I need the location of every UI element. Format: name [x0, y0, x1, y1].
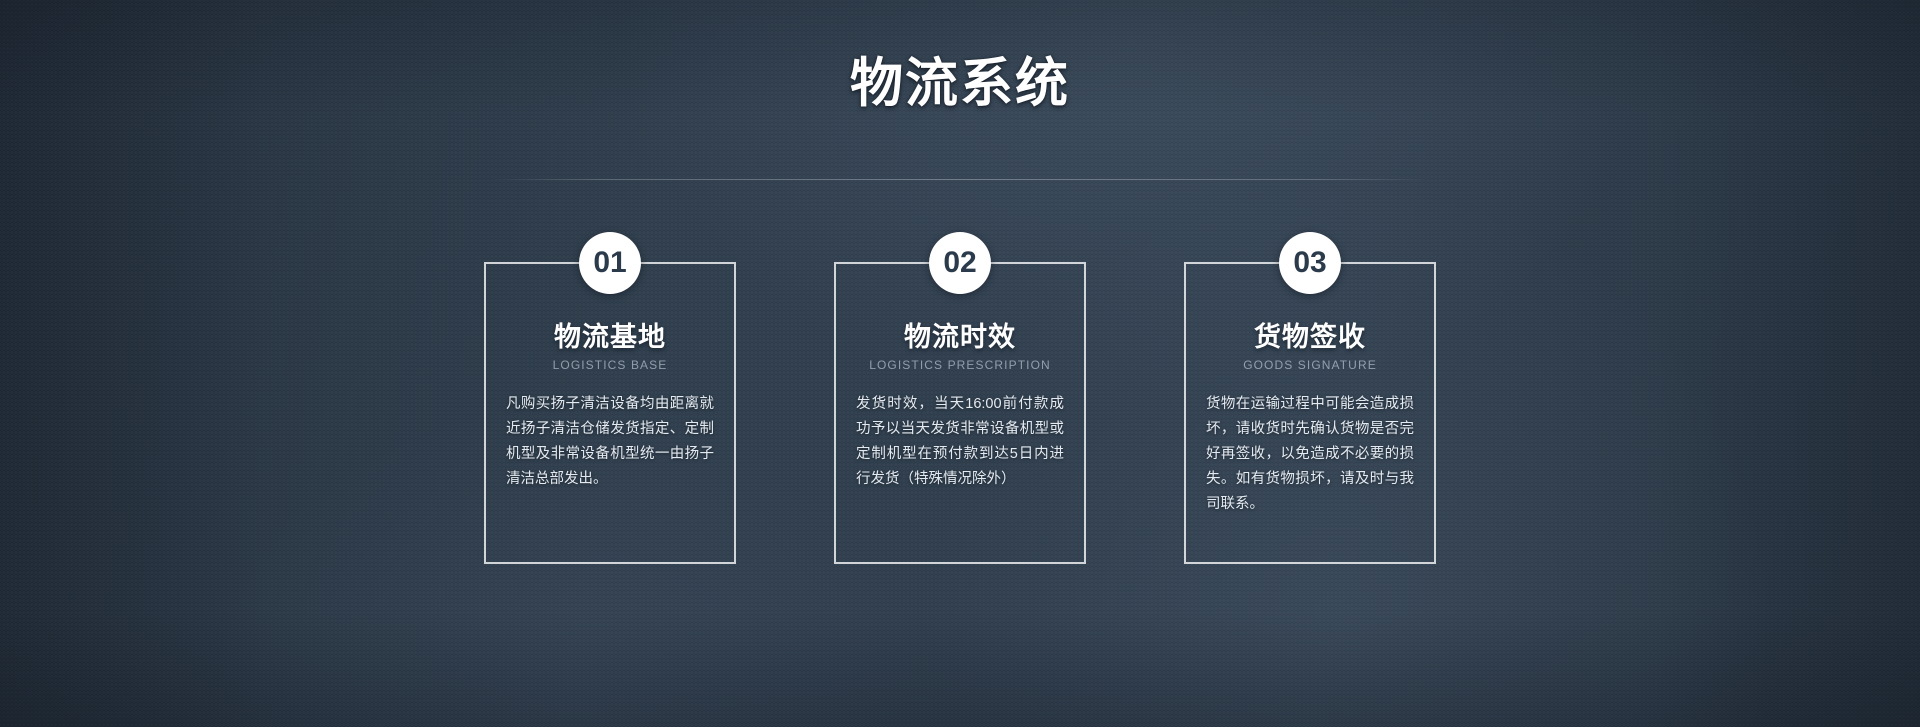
card-subtitle-1: LOGISTICS BASE [504, 357, 716, 373]
card-subtitle-2: LOGISTICS PRESCRIPTION [854, 357, 1066, 373]
logistics-section: 物流系统 01 物流基地 LOGISTICS BASE 凡购买扬子清洁设备均由距… [0, 0, 1920, 727]
card-body-3: 货物在运输过程中可能会造成损坏，请收货时先确认货物是否完好再签收，以免造成不必要… [1204, 392, 1416, 517]
logistics-card-row: 01 物流基地 LOGISTICS BASE 凡购买扬子清洁设备均由距离就近扬子… [0, 262, 1920, 564]
logistics-card-3: 03 货物签收 GOODS SIGNATURE 货物在运输过程中可能会造成损坏，… [1184, 262, 1436, 564]
page-title: 物流系统 [0, 52, 1920, 116]
title-divider [492, 179, 1428, 180]
step-badge-1: 01 [579, 232, 641, 294]
step-badge-2: 02 [929, 232, 991, 294]
card-body-2: 发货时效，当天16:00前付款成功予以当天发货非常设备机型或定制机型在预付款到达… [854, 392, 1066, 492]
card-title-2: 物流时效 [854, 320, 1066, 354]
logistics-card-1: 01 物流基地 LOGISTICS BASE 凡购买扬子清洁设备均由距离就近扬子… [484, 262, 736, 564]
card-subtitle-3: GOODS SIGNATURE [1204, 357, 1416, 373]
card-title-3: 货物签收 [1204, 320, 1416, 354]
logistics-card-2: 02 物流时效 LOGISTICS PRESCRIPTION 发货时效，当天16… [834, 262, 1086, 564]
card-body-1: 凡购买扬子清洁设备均由距离就近扬子清洁仓储发货指定、定制机型及非常设备机型统一由… [504, 392, 716, 492]
step-badge-3: 03 [1279, 232, 1341, 294]
card-title-1: 物流基地 [504, 320, 716, 354]
